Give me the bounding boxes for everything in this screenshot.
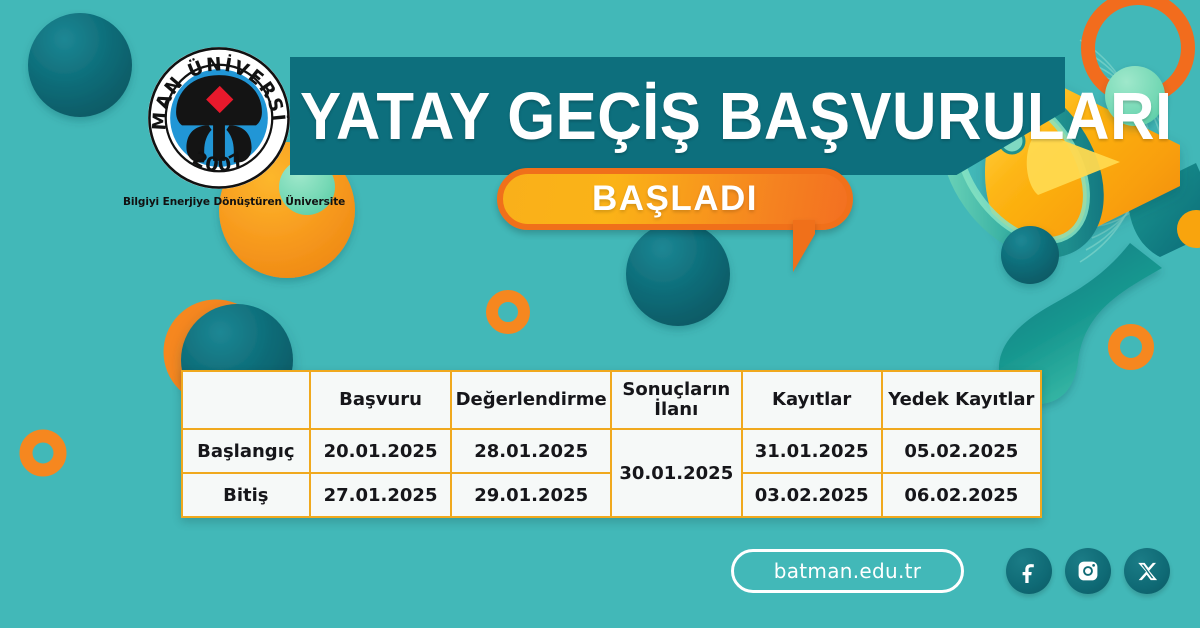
page-title: YATAY GEÇİŞ BAŞVURULARI <box>300 75 962 157</box>
decor-ring-orange-mid <box>492 296 524 328</box>
cell-baslangic-basvuru: 20.01.2025 <box>310 429 452 473</box>
decor-circle-teal-topleft <box>28 13 132 117</box>
cell-baslangic-kayitlar: 31.01.2025 <box>742 429 882 473</box>
cell-bitis-yedek-kayitlar: 06.02.2025 <box>882 473 1041 517</box>
column-header-basvuru: Başvuru <box>310 371 452 429</box>
row-label-baslangic: Başlangıç <box>182 429 310 473</box>
facebook-icon[interactable] <box>1006 548 1052 594</box>
logo-tagline: Bilgiyi Enerjiye Dönüştüren Üniversite <box>123 196 313 208</box>
cell-bitis-basvuru: 27.01.2025 <box>310 473 452 517</box>
column-header-degerlendirme: Değerlendirme <box>451 371 610 429</box>
website-label: batman.edu.tr <box>774 559 922 583</box>
schedule-table: Başvuru Değerlendirme Sonuçların İlanı K… <box>181 370 1042 518</box>
row-label-bitis: Bitiş <box>182 473 310 517</box>
table-row: Başlangıç 20.01.2025 28.01.2025 30.01.20… <box>182 429 1041 473</box>
column-header-kayitlar: Kayıtlar <box>742 371 882 429</box>
social-links <box>1006 548 1170 594</box>
sonuclar-line2: İlanı <box>654 399 698 420</box>
cell-bitis-kayitlar: 03.02.2025 <box>742 473 882 517</box>
cell-baslangic-degerlendirme: 28.01.2025 <box>451 429 610 473</box>
cell-baslangic-yedek-kayitlar: 05.02.2025 <box>882 429 1041 473</box>
badge-tail-icon <box>793 220 815 272</box>
decor-circle-teal-underhorn <box>1001 226 1059 284</box>
cell-sonuclarin-ilani-merged: 30.01.2025 <box>611 429 742 517</box>
column-header-yedek-kayitlar: Yedek Kayıtlar <box>882 371 1041 429</box>
sonuclar-line1: Sonuçların <box>622 379 730 400</box>
poster-canvas: YATAY GEÇİŞ BAŞVURULARI BAŞLADI <box>0 0 1200 628</box>
decor-ring-orange-lowerright <box>1114 330 1148 364</box>
cell-bitis-degerlendirme: 29.01.2025 <box>451 473 610 517</box>
x-twitter-icon[interactable] <box>1124 548 1170 594</box>
decor-ring-orange-bottomleft <box>26 436 60 470</box>
badge-label: BAŞLADI <box>592 179 758 219</box>
table-header-row: Başvuru Değerlendirme Sonuçların İlanı K… <box>182 371 1041 429</box>
status-badge: BAŞLADI <box>497 168 862 268</box>
column-header-sonuclarin-ilani: Sonuçların İlanı <box>611 371 742 429</box>
instagram-icon[interactable] <box>1065 548 1111 594</box>
website-pill[interactable]: batman.edu.tr <box>731 549 964 593</box>
university-seal-icon: BATMAN ÜNİVERSİTESİ 2007 <box>145 44 293 192</box>
university-logo: BATMAN ÜNİVERSİTESİ 2007 Bilgiyi Enerjiy… <box>123 44 313 226</box>
table-corner-cell <box>182 371 310 429</box>
